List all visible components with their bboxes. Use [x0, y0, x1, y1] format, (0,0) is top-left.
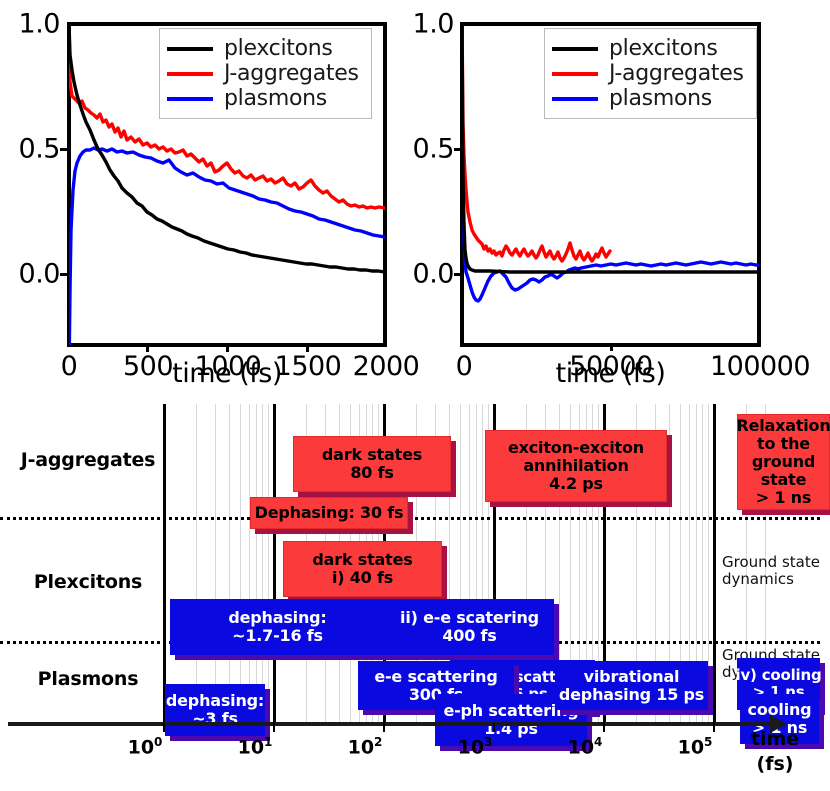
- legend-label: plexcitons: [224, 36, 333, 61]
- legend-label: plasmons: [609, 86, 712, 111]
- legend-label: J-aggregates: [609, 61, 744, 86]
- row-divider-1: [0, 517, 820, 520]
- legend-line-plexcitons: [167, 47, 213, 51]
- legend-item: plasmons: [167, 86, 362, 111]
- legend-line-j-aggregates: [167, 72, 213, 76]
- timeline-box-j-aggregates[interactable]: exciton-exciton annihilation 4.2 ps: [485, 430, 667, 502]
- time-axis-tick-label-1e3: 103: [458, 735, 493, 758]
- decade-gridline-1e1: [273, 404, 276, 722]
- legend-line-plasmons: [167, 97, 213, 101]
- timeline-box-plasmons[interactable]: dephasing: ~3 fs: [165, 684, 265, 736]
- time-axis-title-line1: time: [735, 729, 815, 750]
- time-axis-tick: [603, 723, 605, 732]
- legend-item: plexcitons: [552, 36, 747, 61]
- legend-label: plasmons: [224, 86, 327, 111]
- legend-line-j-aggregates: [552, 72, 598, 76]
- time-axis-tick-label-1e4: 104: [568, 735, 603, 758]
- minor-gridline: [196, 404, 197, 722]
- time-axis-tick: [493, 723, 495, 732]
- minor-gridline: [256, 404, 257, 722]
- chart-legend-short-time: plexcitons J-aggregates plasmons: [159, 28, 372, 119]
- timeline-box-plexcitons[interactable]: dark states i) 40 fs: [283, 541, 442, 597]
- time-axis-tick: [713, 723, 715, 732]
- minor-gridline: [249, 404, 250, 722]
- time-axis-title-line2: (fs): [735, 754, 815, 775]
- chart-panel-long-time: 1.0 0.5 0.0 plexcitons J-aggregates: [420, 0, 830, 392]
- timeline-box-plexcitons[interactable]: dephasing: ~1.7-16 fs: [170, 599, 385, 655]
- decade-gridline-1e5: [713, 404, 716, 722]
- legend-label: plexcitons: [609, 36, 718, 61]
- time-axis-tick: [273, 723, 275, 732]
- legend-line-plexcitons: [552, 47, 598, 51]
- minor-gridline: [268, 404, 269, 722]
- ground-state-note-plexcitons: Ground state dynamics: [722, 554, 820, 589]
- timeline-box-j-aggregates[interactable]: dark states 80 fs: [293, 436, 451, 492]
- time-axis-line: [8, 722, 772, 726]
- time-axis-tick-label-1e5: 105: [678, 735, 713, 758]
- legend-line-plasmons: [552, 97, 598, 101]
- timeline-row-label-plexcitons: Plexcitons: [18, 571, 158, 593]
- decade-gridline-1e0: [163, 404, 166, 722]
- time-axis-tick-label-1e1: 101: [238, 735, 273, 758]
- minor-gridline: [262, 404, 263, 722]
- minor-gridline: [229, 404, 230, 722]
- minor-gridline: [708, 404, 709, 722]
- timeline-row-label-j-aggregates: J-aggregates: [18, 449, 158, 471]
- minor-gridline: [215, 404, 216, 722]
- timeline-box-plasmons[interactable]: vibrational dephasing 15 ps: [555, 661, 708, 710]
- time-axis-tick: [383, 723, 385, 732]
- legend-label: J-aggregates: [224, 61, 359, 86]
- timeline-box-plexcitons[interactable]: ii) e-e scatering 400 fs: [385, 599, 554, 655]
- x-axis-title: time (fs): [67, 358, 387, 389]
- relaxation-timeline-diagram: J-aggregates Plexcitons Plasmons Ground …: [0, 392, 830, 791]
- timeline-row-label-plasmons: Plasmons: [18, 668, 158, 690]
- legend-item: J-aggregates: [167, 61, 362, 86]
- timeline-box-j-aggregates[interactable]: Relaxation to the ground state > 1 ns: [737, 414, 830, 510]
- legend-item: plasmons: [552, 86, 747, 111]
- time-axis-tick: [163, 723, 165, 732]
- minor-gridline: [240, 404, 241, 722]
- timeline-box-j-aggregates[interactable]: Dephasing: 30 fs: [250, 497, 408, 529]
- population-dynamics-charts: 1.0 0.5 0.0 plexcitons J-aggregates: [0, 0, 830, 392]
- x-axis-title: time (fs): [460, 358, 761, 389]
- time-axis-tick-label-1e0: 100: [128, 735, 163, 758]
- legend-item: plexcitons: [167, 36, 362, 61]
- chart-panel-short-time: 1.0 0.5 0.0 plexcitons J-aggregates: [0, 0, 420, 392]
- chart-legend-long-time: plexcitons J-aggregates plasmons: [544, 28, 757, 119]
- time-axis-tick-label-1e2: 102: [348, 735, 383, 758]
- legend-item: J-aggregates: [552, 61, 747, 86]
